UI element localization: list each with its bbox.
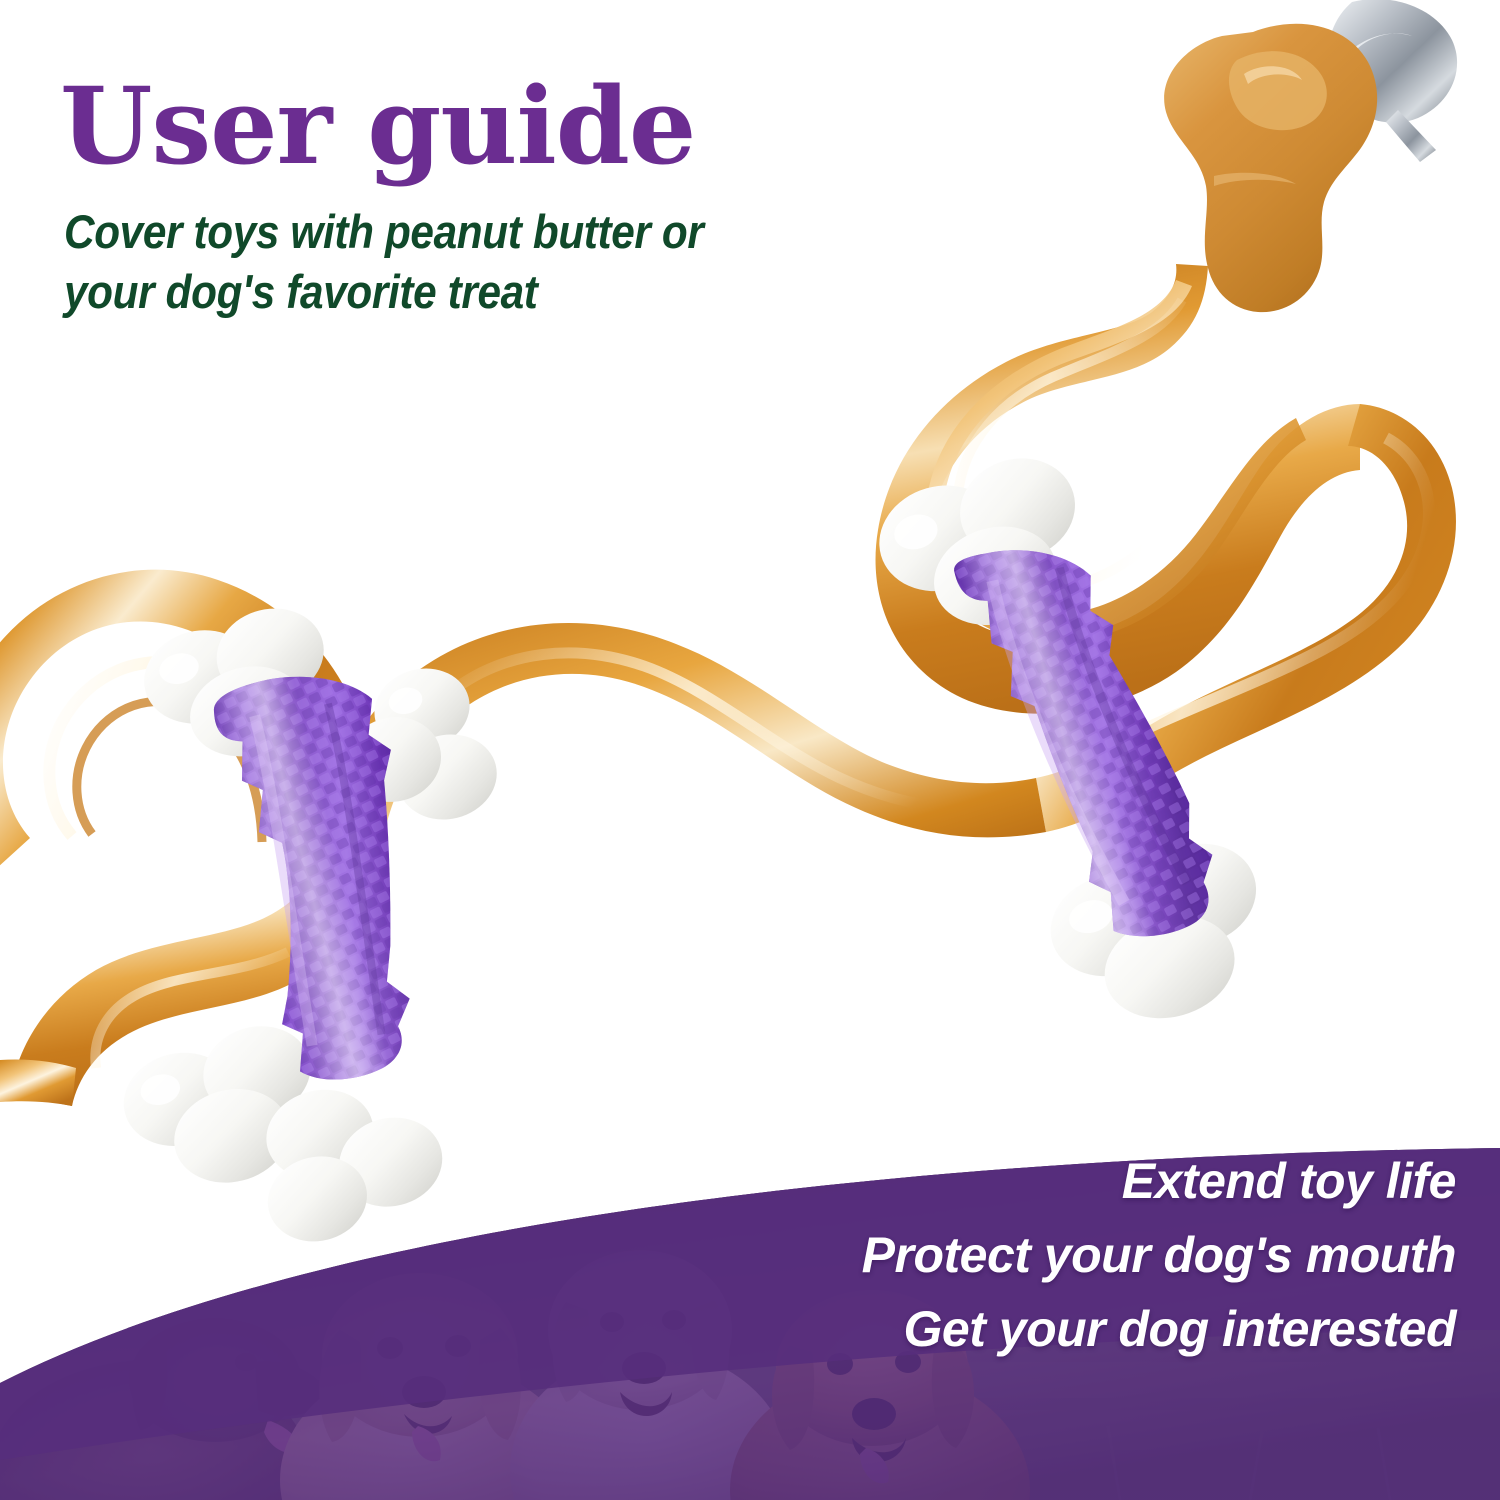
heading-block: User guide Cover toys with peanut butter… [60,72,960,322]
caramel-tail [0,1059,76,1106]
promo-line-1: Extend toy life [862,1144,1456,1218]
subtitle-line-1: Cover toys with peanut butter or [64,202,870,262]
promo-line-3: Get your dog interested [862,1292,1456,1366]
promo-benefit-list: Extend toy life Protect your dog's mouth… [862,1144,1456,1366]
infographic-canvas: User guide Cover toys with peanut butter… [0,0,1500,1500]
promo-banner: Extend toy life Protect your dog's mouth… [0,1130,1500,1500]
page-title: User guide [60,72,960,180]
page-subtitle: Cover toys with peanut butter or your do… [64,202,870,322]
caramel-ribbon-left [10,828,382,1106]
subtitle-line-2: your dog's favorite treat [64,262,870,322]
promo-line-2: Protect your dog's mouth [862,1218,1456,1292]
